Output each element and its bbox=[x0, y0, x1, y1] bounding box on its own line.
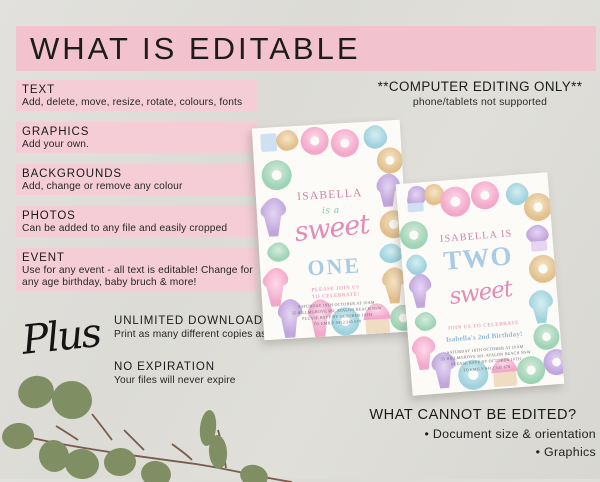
feature-desc-event-line2: any age birthday, baby bruch & more! bbox=[22, 277, 197, 290]
feature-title-backgrounds: BACKGROUNDS bbox=[22, 168, 122, 181]
feature-desc-event: Use for any event - all text is editable… bbox=[22, 265, 253, 278]
cannot-edit-item-graphics: • Graphics bbox=[350, 444, 596, 461]
computer-editing-notice: **COMPUTER EDITING ONLY** bbox=[360, 78, 600, 95]
computer-editing-subnotice: phone/tablets not supported bbox=[360, 96, 600, 110]
feature-title-graphics: GRAPHICS bbox=[22, 126, 89, 139]
cannot-edit-item-document: • Document size & orientation bbox=[350, 426, 596, 443]
feature-title-event: EVENT bbox=[22, 252, 65, 265]
feature-desc-graphics: Add your own. bbox=[22, 139, 89, 152]
feature-title-photos: PHOTOS bbox=[22, 210, 76, 223]
feature-desc-backgrounds: Add, change or remove any colour bbox=[22, 181, 183, 194]
feature-desc-photos: Can be added to any file and easily crop… bbox=[22, 223, 227, 236]
page-title: WHAT IS EDITABLE bbox=[30, 29, 590, 69]
card-one-inner: ISABELLA is a sweet ONE PLEASE JOIN US T… bbox=[252, 120, 412, 340]
cannot-edit-title: WHAT CANNOT BE EDITED? bbox=[350, 406, 596, 425]
eucalyptus-branch-decoration bbox=[0, 352, 296, 482]
editable-info-graphic: WHAT IS EDITABLE TEXT Add, delete, move,… bbox=[0, 0, 600, 479]
feature-desc-text: Add, delete, move, resize, rotate, colou… bbox=[22, 97, 242, 110]
invitation-card-sweet-one[interactable]: ISABELLA is a sweet ONE PLEASE JOIN US T… bbox=[252, 120, 412, 340]
invitation-card-two-sweet[interactable]: ISABELLA IS TWO sweet JOIN US TO CELEBRA… bbox=[396, 172, 565, 396]
plus-title-downloads: UNLIMITED DOWNLOADS bbox=[114, 314, 272, 328]
sweets-border-graphic-one bbox=[252, 120, 412, 340]
feature-title-text: TEXT bbox=[22, 84, 55, 97]
sweets-border-graphic-two bbox=[396, 172, 565, 396]
card-two-inner: ISABELLA IS TWO sweet JOIN US TO CELEBRA… bbox=[396, 172, 565, 396]
